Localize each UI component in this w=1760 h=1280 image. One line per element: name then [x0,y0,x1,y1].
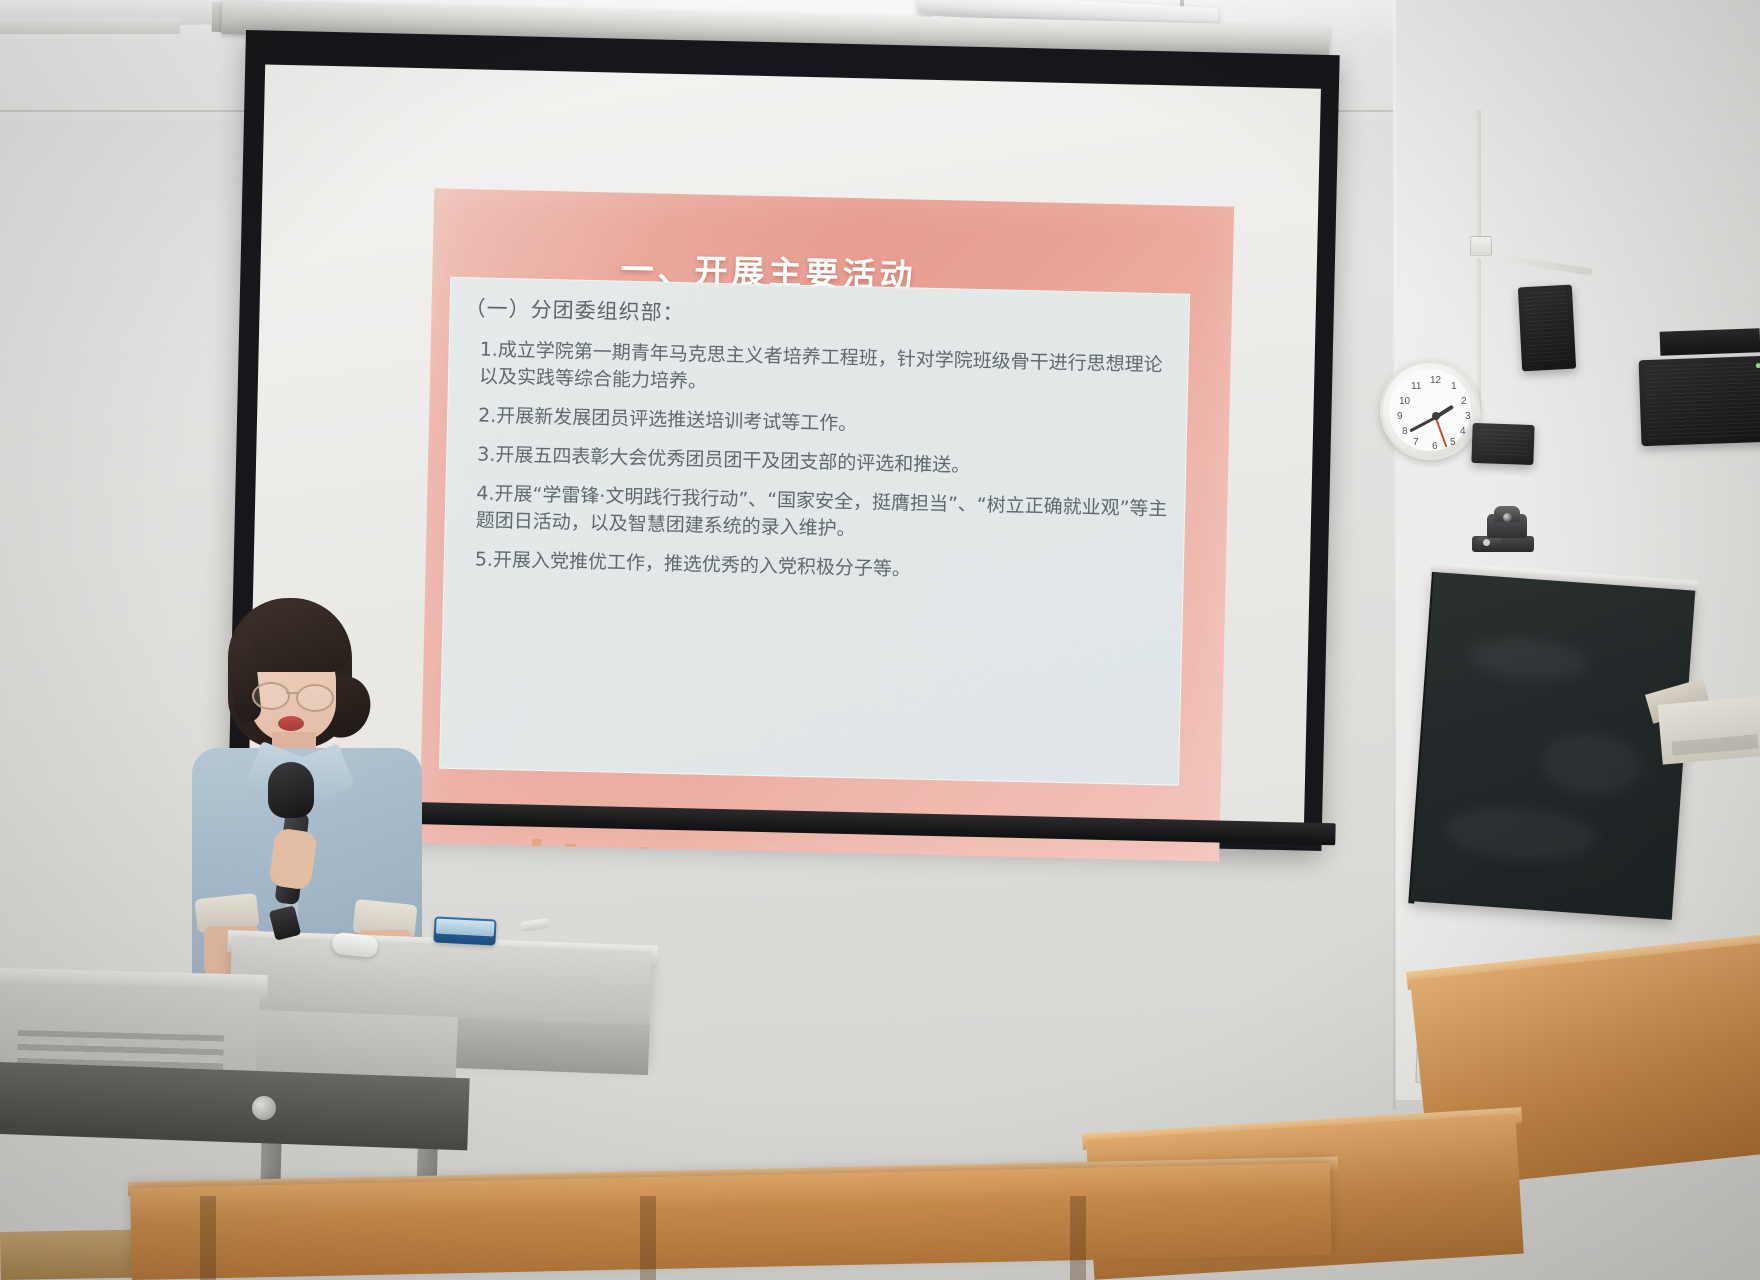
wall-speaker-left [1518,285,1576,372]
clock-numeral: 12 [1430,375,1441,386]
list-item: 4.开展“学雷锋·文明践行我行动”、“国家安全，挺膺担当”、“树立正确就业观”等… [475,480,1176,550]
clock-numeral: 10 [1399,396,1410,407]
microphone-head[interactable] [268,762,314,818]
chalk-smudge [1467,635,1590,683]
right-wall-panel [1395,0,1760,1100]
clock-face: 12 1 2 3 4 5 6 7 8 9 10 11 [1389,369,1471,451]
ceiling-light-left-secondary [0,18,180,34]
speaker-grille [1524,291,1570,365]
list-item: 1.成立学院第一期青年马克思主义者培养工程班，针对学院班级骨干进行思想理论以及实… [479,336,1180,406]
clock-numeral: 1 [1451,381,1457,392]
clock-numeral: 6 [1432,441,1438,452]
clock-numeral: 9 [1397,411,1403,422]
presenter-lips [278,716,304,731]
eyeglasses-icon [252,682,334,706]
clock-center-pin [1432,412,1440,420]
desk-divider [200,1196,216,1280]
wall-corner-edge [1393,0,1396,1110]
wall-speaker-small [1471,423,1534,465]
speaker-grille [1478,429,1529,459]
list-item: 3.开展五四表彰大会优秀团员团干及团支部的评选和推送。 [477,441,1177,484]
wall-display-mount [1660,328,1760,355]
wall-junction-plate [1470,236,1492,256]
presentation-slide: 一、开展主要活动 （一）分团委组织部： 1.成立学院第一期青年马克思主义者培养工… [419,188,1234,861]
list-item: 2.开展新发展团员评选推送培训考试等工作。 [478,402,1178,445]
slide-content-card: （一）分团委组织部： 1.成立学院第一期青年马克思主义者培养工程班，针对学院班级… [439,277,1190,786]
hand-holding-microphone [268,827,318,890]
chalk-smudge [1539,730,1643,797]
speaker-power-led-icon [1756,363,1760,368]
clock-numeral: 2 [1461,396,1467,407]
clock-numeral: 8 [1402,426,1408,437]
clock-numeral: 11 [1411,381,1421,392]
classroom-photo-scene: 一、开展主要活动 （一）分团委组织部： 1.成立学院第一期青年马克思主义者培养工… [0,0,1760,1280]
wall-speaker-right [1639,356,1760,446]
cabinet-knob[interactable] [252,1096,276,1120]
blackboard [1410,572,1695,920]
slide-bullet-list: 1.成立学院第一期青年马克思主义者培养工程班，针对学院班级骨干进行思想理论以及实… [474,336,1180,601]
clock-numeral: 7 [1413,437,1419,448]
clock-numeral: 5 [1450,437,1456,448]
glasses-bridge [286,692,298,694]
clock-numeral: 4 [1460,426,1466,437]
list-item: 5.开展入党推优工作，推选优秀的入党积极分子等。 [475,546,1175,589]
wall-clock: 12 1 2 3 4 5 6 7 8 9 10 11 [1380,360,1480,460]
mobile-phone[interactable] [433,916,496,945]
speaker-grille [1645,362,1760,440]
glasses-lens-right [296,684,334,712]
phone-screen [436,918,495,936]
camera-lens-icon [1503,513,1512,522]
desk-divider [1070,1196,1086,1280]
glasses-lens-left [252,682,290,710]
clock-numeral: 3 [1465,411,1471,422]
chalk-smudge [1444,804,1597,865]
desk-divider [640,1196,656,1280]
slide-section-heading: （一）分团委组织部： [464,292,685,327]
wall-conduit-vertical [1474,110,1481,410]
camera-ir-sensor-icon [1483,539,1490,546]
